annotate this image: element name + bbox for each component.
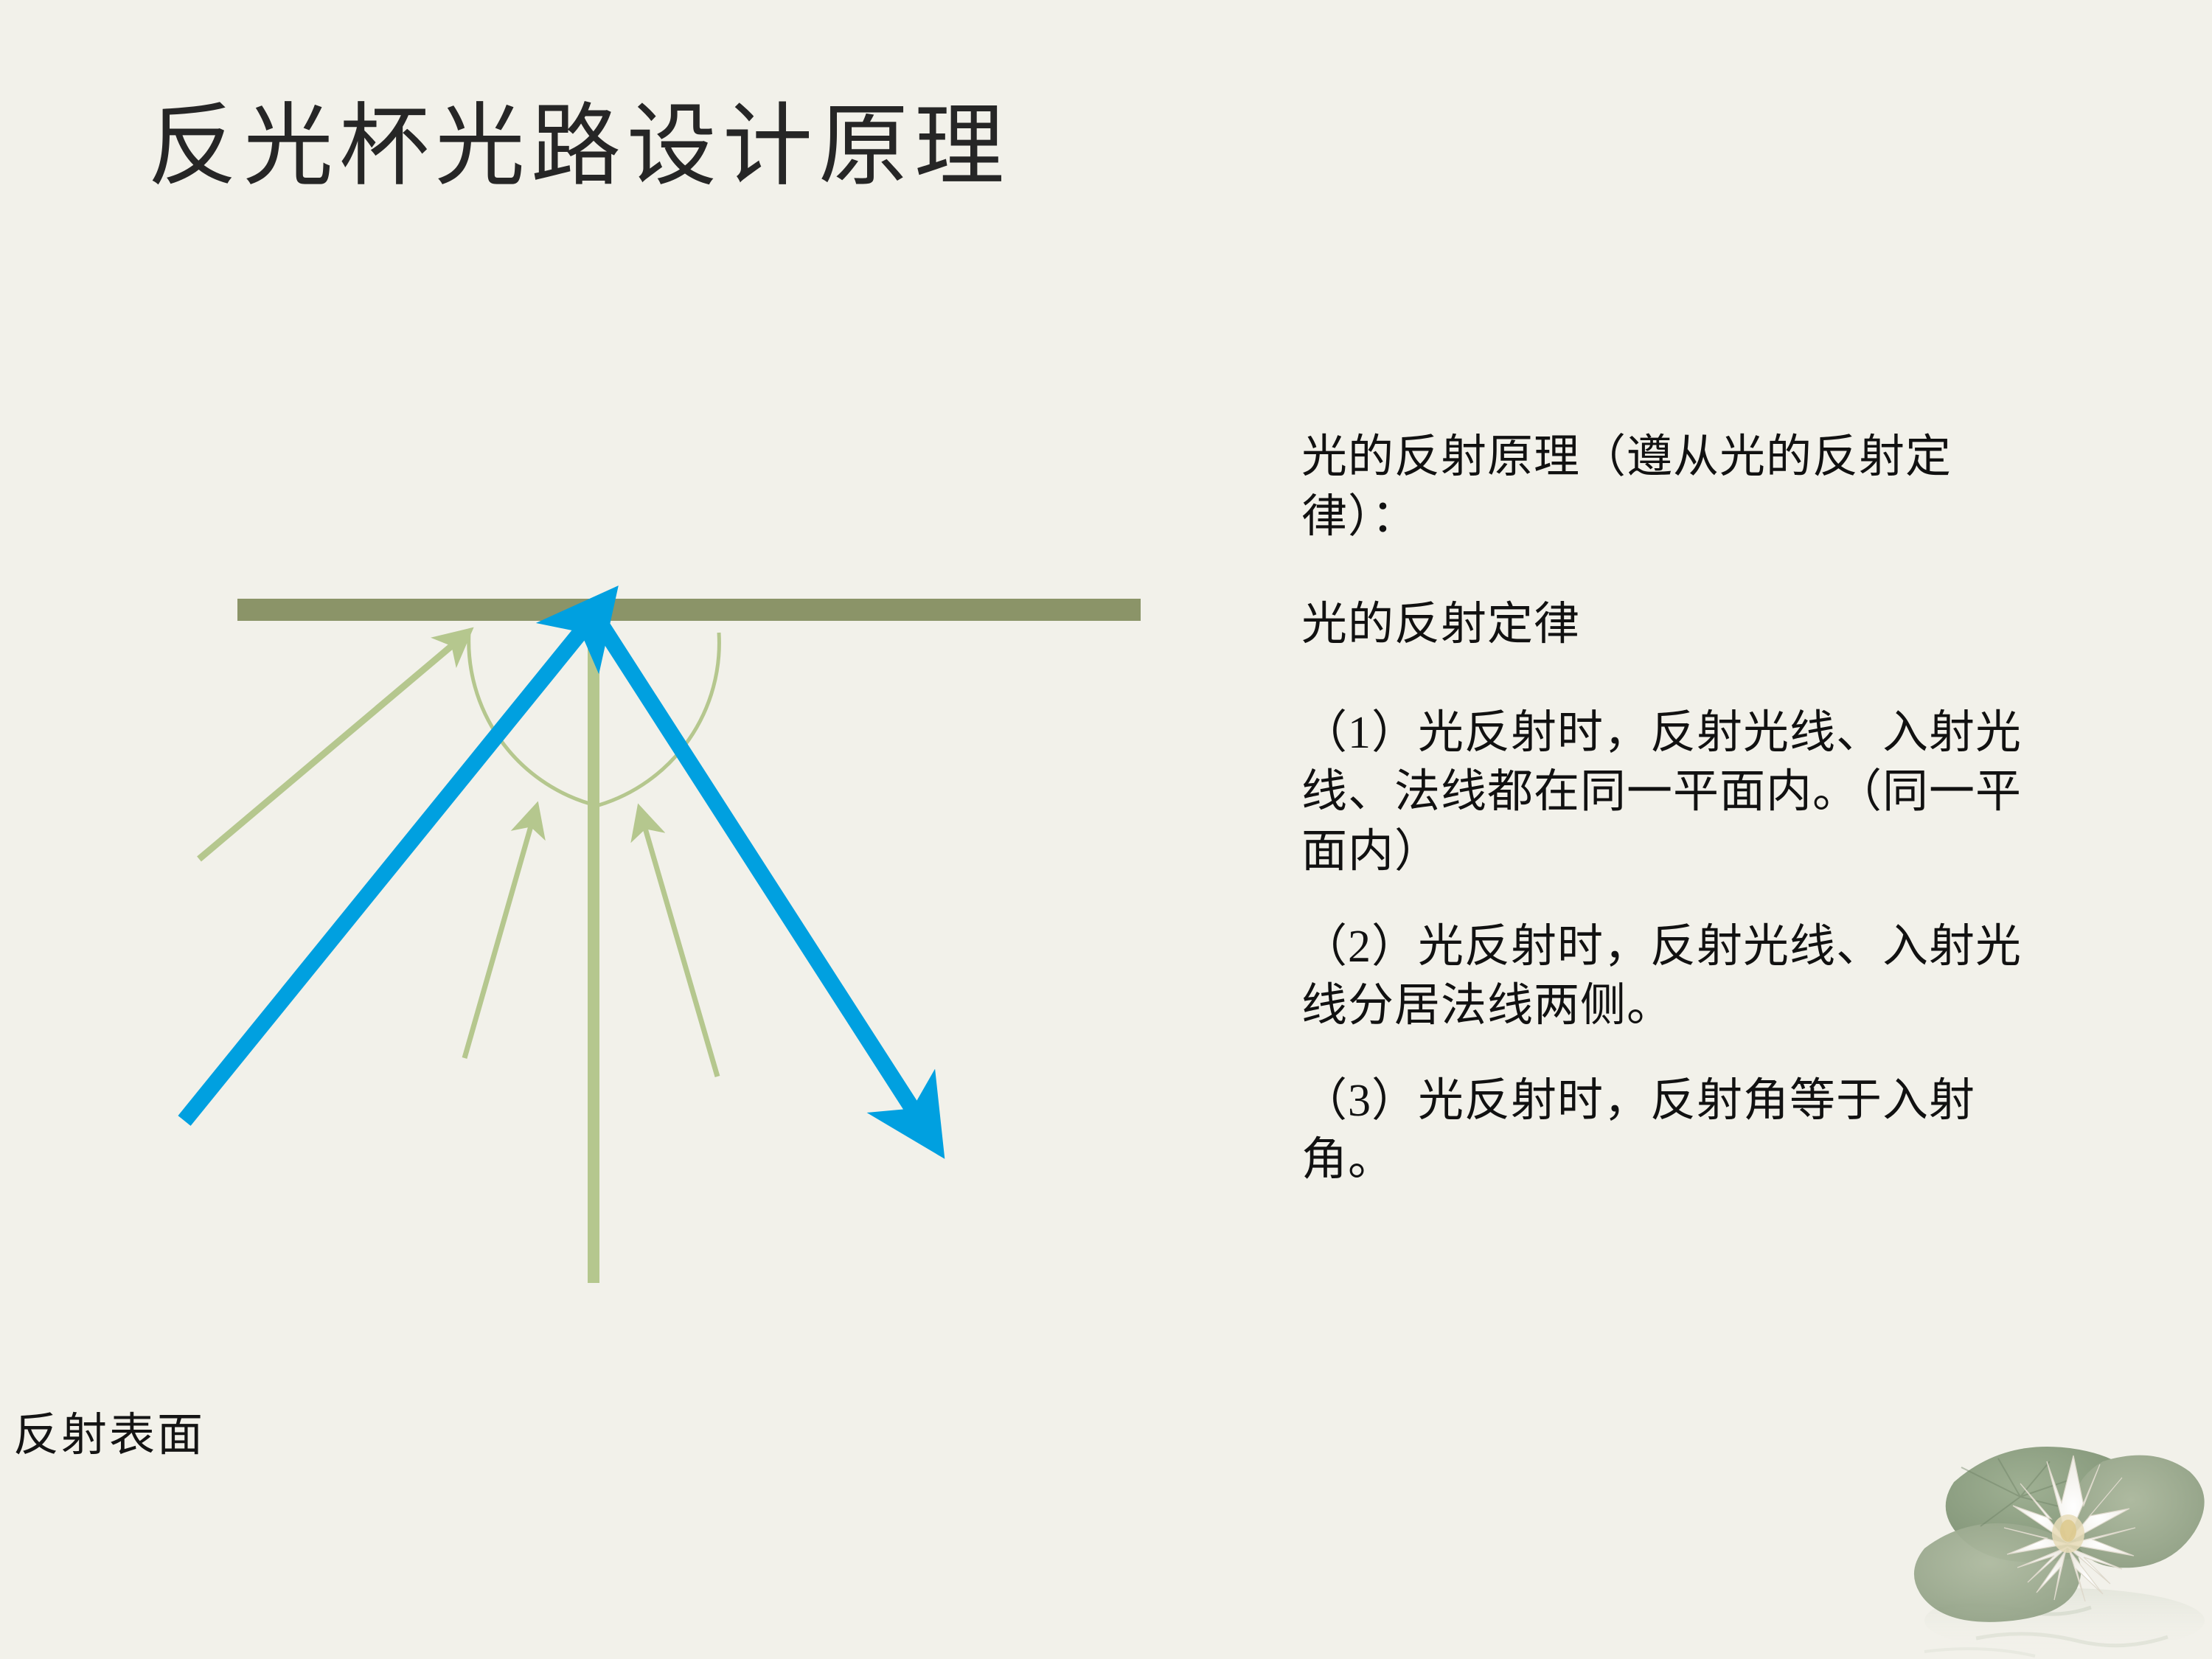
- reflective-surface-bar: [237, 599, 1141, 621]
- paragraph-law-item-2: （2）光反射时，反射光线、入射光线分居法线两侧。: [1301, 917, 2039, 1036]
- slide-canvas: 反光杯光路设计原理: [0, 0, 2212, 1659]
- incidence-angle-leader-line: [465, 818, 533, 1058]
- reflected-ray: [599, 621, 920, 1121]
- label-reflective-surface: 反射表面: [13, 1408, 205, 1464]
- reflection-law-text-block: 光的反射原理（遵从光的反射定律）： 光的反射定律 （1）光反射时，反射光线、入射…: [1301, 428, 2039, 1190]
- paragraph-law-item-3: （3）光反射时，反射角等于入射角。: [1301, 1071, 2039, 1190]
- paragraph-law-item-1: （1）光反射时，反射光线、入射光线、法线都在同一平面内。（同一平面内）: [1301, 703, 2039, 882]
- page-title: 反光杯光路设计原理: [147, 96, 1010, 199]
- light-reflection-diagram: 反射表面 入射角 反射角 入射光线 反射光线: [0, 605, 1239, 1386]
- reflection-angle-leader-line: [643, 821, 717, 1077]
- water-lily-decoration: [1910, 1423, 2212, 1659]
- incident-ray: [184, 621, 590, 1121]
- incidence-angle-arc: [469, 633, 590, 804]
- paragraph-reflection-principle: 光的反射原理（遵从光的反射定律）：: [1301, 428, 2039, 546]
- paragraph-reflection-law-heading: 光的反射定律: [1301, 595, 2039, 655]
